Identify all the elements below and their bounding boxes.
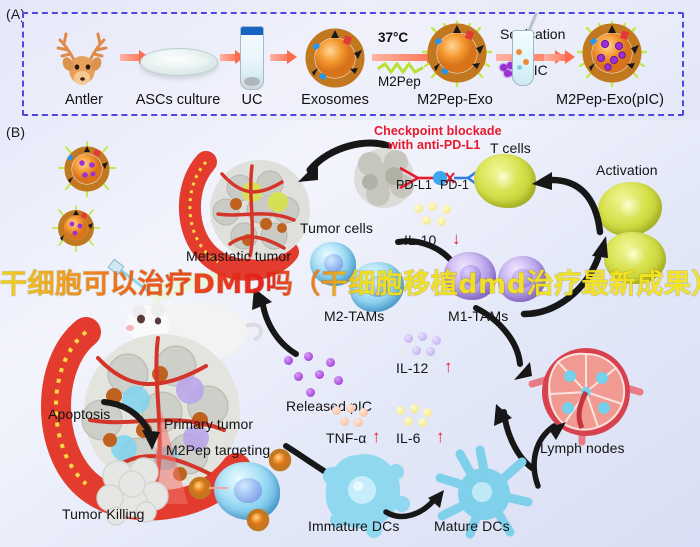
arrow-antler-to-culture xyxy=(120,54,140,61)
il-10-cytokine-cluster xyxy=(414,202,460,232)
label-il-12: IL-12 xyxy=(396,360,428,376)
caption-exosomes: Exosomes xyxy=(301,92,369,108)
arrow-sonication-to-product xyxy=(544,54,566,61)
label-checkpoint-blockade-line2: with anti-PD-L1 xyxy=(388,138,480,152)
petri-dish-icon xyxy=(140,48,218,76)
il-6-cytokine-cluster xyxy=(396,404,440,432)
panel-b: (B) xyxy=(0,120,700,547)
m2pep-peptide-icon xyxy=(378,62,424,74)
released-pic-cluster xyxy=(282,352,348,396)
label-pd-l1: PD-L1 xyxy=(396,178,432,192)
label-pd-1: PD-1 xyxy=(440,178,469,192)
caption-m2pep-exo: M2Pep-Exo xyxy=(417,92,493,108)
arrow-dc-to-lymph xyxy=(528,420,590,490)
arrow-activation xyxy=(528,170,610,238)
arrow-uc-to-exosomes xyxy=(270,54,288,61)
m2-tam-cell-1 xyxy=(310,242,356,286)
t-cell-1 xyxy=(474,154,536,208)
uc-tube-icon xyxy=(240,26,264,90)
label-m2pep: M2Pep xyxy=(378,74,421,89)
label-mature-dcs: Mature DCs xyxy=(434,518,510,534)
label-apoptosis: Apoptosis xyxy=(48,406,110,422)
label-tumor-killing: Tumor Killing xyxy=(62,506,144,522)
label-il-6: IL-6 xyxy=(396,430,421,446)
exosome-particle-free-2 xyxy=(52,206,100,252)
label-primary-tumor: Primary tumor xyxy=(164,416,253,432)
m2pep-targeting-particles xyxy=(186,450,306,530)
label-checkpoint-blockade-line1: Checkpoint blockade xyxy=(374,124,502,138)
il-6-up-arrow: ↑ xyxy=(436,428,445,445)
panel-a: (A) Antler ASCs culture UC xyxy=(0,0,700,120)
exosome-particle-free-1 xyxy=(58,142,116,198)
antler-deer-icon xyxy=(50,26,122,86)
label-tumor-cells: Tumor cells xyxy=(300,220,373,236)
arrow-apoptosis xyxy=(100,398,174,454)
panel-b-label: (B) xyxy=(6,124,25,140)
caption-antler: Antler xyxy=(65,92,103,108)
label-metastatic-tumor: Metastatic tumor xyxy=(186,248,291,264)
sonication-tube-icon xyxy=(512,30,534,86)
tnf-alpha-cytokine-cluster xyxy=(332,404,376,432)
figure-container: (A) Antler ASCs culture UC xyxy=(0,0,700,547)
il-12-up-arrow: ↑ xyxy=(444,358,453,375)
arrow-tumor-to-m2 xyxy=(248,286,318,358)
caption-uc: UC xyxy=(242,92,263,108)
m1-tam-cell-1 xyxy=(444,252,496,300)
label-temperature: 37°C xyxy=(378,30,408,45)
caption-ascs-culture: ASCs culture xyxy=(136,92,221,108)
label-m2-tams: M2-TAMs xyxy=(324,308,384,324)
arrow-culture-to-uc xyxy=(220,54,236,61)
caption-m2pep-exo-pic: M2Pep-Exo(pIC) xyxy=(556,92,664,108)
